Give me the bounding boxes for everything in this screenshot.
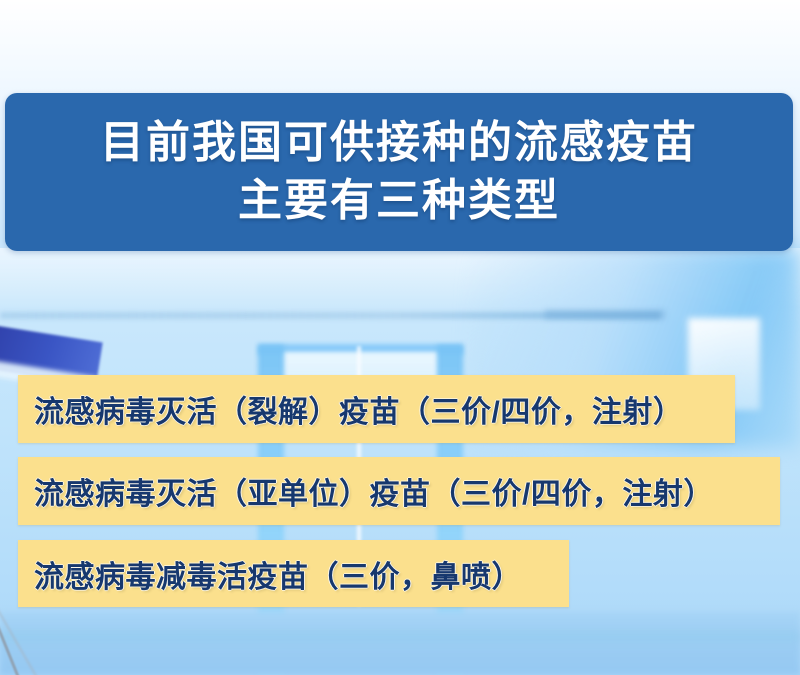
vaccine-type-label-2: 流感病毒灭活（亚单位）疫苗（三价/四价，注射）	[18, 469, 714, 513]
list-item: 流感病毒灭活（裂解）疫苗（三价/四价，注射）	[18, 375, 735, 443]
vaccine-type-label-1: 流感病毒灭活（裂解）疫苗（三价/四价，注射）	[18, 387, 683, 431]
vaccine-type-label-3: 流感病毒减毒活疫苗（三价，鼻喷）	[18, 552, 522, 596]
poster-root: 目前我国可供接种的流感疫苗 主要有三种类型 流感病毒灭活（裂解）疫苗（三价/四价…	[0, 0, 800, 675]
vaccine-type-list: 流感病毒灭活（裂解）疫苗（三价/四价，注射） 流感病毒灭活（亚单位）疫苗（三价/…	[0, 0, 800, 675]
list-item: 流感病毒灭活（亚单位）疫苗（三价/四价，注射）	[18, 457, 780, 525]
list-item: 流感病毒减毒活疫苗（三价，鼻喷）	[18, 540, 569, 607]
